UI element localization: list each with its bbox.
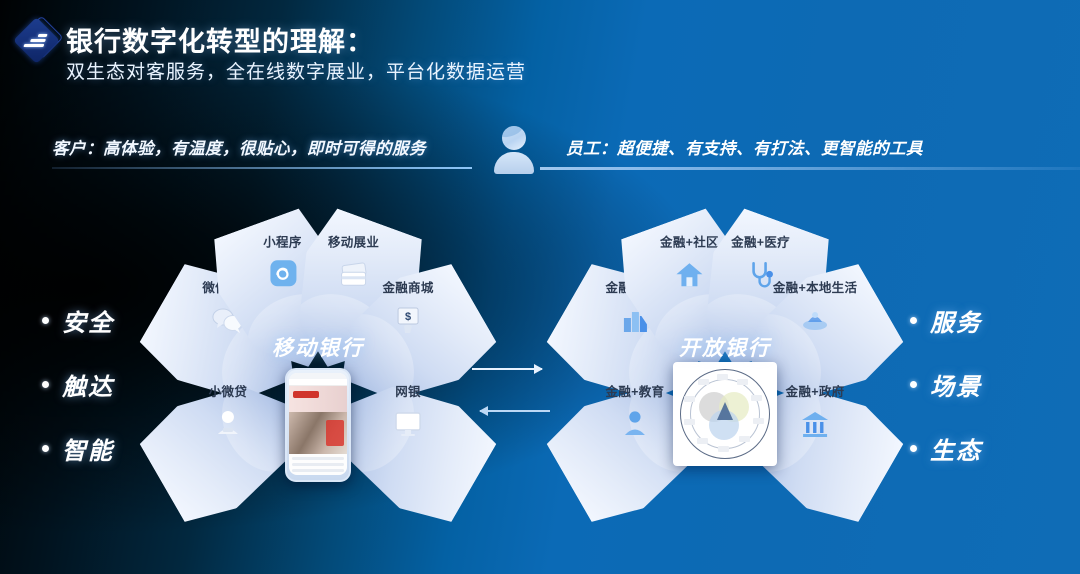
cluster-mobile-bank: 微信银行 小程序 bbox=[128, 228, 508, 558]
wheel-tick bbox=[684, 396, 695, 402]
bullet-label: 服务 bbox=[930, 303, 982, 338]
wheel-tick bbox=[739, 436, 750, 442]
phone-mockup bbox=[285, 368, 351, 482]
brand-diamond-logo-icon bbox=[14, 18, 60, 64]
person-loan-icon bbox=[210, 408, 246, 440]
wheel-tick bbox=[753, 418, 764, 424]
person-avatar-icon bbox=[490, 126, 538, 174]
petal-label: 金融+政府 bbox=[786, 385, 845, 401]
avatar-head bbox=[502, 126, 526, 150]
bullet-item-intelligence: 智能 bbox=[42, 416, 114, 480]
wheel-tick bbox=[697, 438, 708, 444]
page-title: 银行数字化转型的理解： bbox=[66, 20, 374, 59]
wheel-tick bbox=[698, 379, 709, 385]
bullet-label: 场景 bbox=[930, 367, 982, 402]
bullet-dot-icon bbox=[42, 317, 49, 324]
money-shop-icon: $ bbox=[390, 304, 426, 336]
petal-label: 网银 bbox=[395, 385, 421, 401]
wheel-tick bbox=[718, 446, 729, 452]
slide-canvas: 银行数字化转型的理解： 双生态对客服务，全在线数字展业，平台化数据运营 客户：高… bbox=[0, 0, 1080, 574]
arrow-right-to-left-icon bbox=[480, 410, 550, 412]
bullet-item-reach: 触达 bbox=[42, 352, 114, 416]
employee-statement: 员工：超便捷、有支持、有打法、更智能的工具 bbox=[566, 135, 923, 159]
bullet-item-security: 安全 bbox=[42, 288, 114, 352]
wheel-tick bbox=[737, 379, 748, 385]
phone-hero-image bbox=[289, 412, 347, 454]
cluster-title-open-bank: 开放银行 bbox=[535, 332, 915, 362]
petal-label: 金融+医疗 bbox=[731, 235, 790, 251]
wheel-tick bbox=[684, 419, 695, 425]
petal-online-bank[interactable]: 网银 bbox=[349, 369, 467, 521]
bullet-dot-icon bbox=[42, 445, 49, 452]
bullet-item-service: 服务 bbox=[910, 288, 982, 352]
page-subtitle: 双生态对客服务，全在线数字展业，平台化数据运营 bbox=[66, 57, 526, 84]
petal-micro-loan[interactable]: 小微贷 bbox=[169, 369, 287, 521]
flow-arrows bbox=[468, 360, 578, 422]
student-icon bbox=[617, 408, 653, 440]
arrow-left-to-right-icon bbox=[472, 368, 542, 370]
phone-appbar bbox=[289, 379, 347, 386]
petal-label: 移动展业 bbox=[328, 235, 379, 251]
ecosystem-wheel-card bbox=[673, 362, 777, 466]
petal-label: 金融商城 bbox=[382, 281, 433, 297]
petal-label: 金融+教育 bbox=[606, 385, 665, 401]
bullet-list-right: 服务 场景 生态 bbox=[910, 288, 982, 480]
cluster-title-mobile-bank: 移动银行 bbox=[128, 332, 508, 362]
venn-center-triangle bbox=[717, 402, 733, 420]
bullet-label: 安全 bbox=[62, 303, 114, 338]
employee-underline bbox=[540, 167, 1080, 170]
bullet-item-ecosystem: 生态 bbox=[910, 416, 982, 480]
customer-underline bbox=[52, 167, 472, 169]
bullet-label: 触达 bbox=[62, 367, 114, 402]
government-icon bbox=[797, 408, 833, 440]
svg-text:$: $ bbox=[405, 311, 411, 323]
wheel-tick bbox=[751, 395, 762, 401]
bullet-label: 生态 bbox=[930, 431, 982, 466]
phone-banner bbox=[289, 386, 347, 412]
bullet-dot-icon bbox=[42, 381, 49, 388]
wheel-tick bbox=[717, 374, 728, 380]
avatar-body bbox=[494, 152, 534, 174]
petal-label: 金融+本地生活 bbox=[773, 281, 857, 297]
bullet-list-left: 安全 触达 智能 bbox=[42, 288, 114, 480]
phone-content-rows bbox=[289, 454, 347, 475]
bullet-label: 智能 bbox=[62, 431, 114, 466]
bullet-item-scenario: 场景 bbox=[910, 352, 982, 416]
phone-screen bbox=[289, 373, 347, 475]
customer-statement: 客户：高体验，有温度，很贴心，即时可得的服务 bbox=[52, 135, 472, 159]
petal-label: 小微贷 bbox=[209, 385, 247, 401]
monitor-icon bbox=[390, 408, 426, 440]
cluster-open-bank: 金融+园区 金融+社区 bbox=[535, 228, 915, 558]
local-life-icon bbox=[797, 304, 833, 336]
phone-frame bbox=[285, 368, 351, 482]
